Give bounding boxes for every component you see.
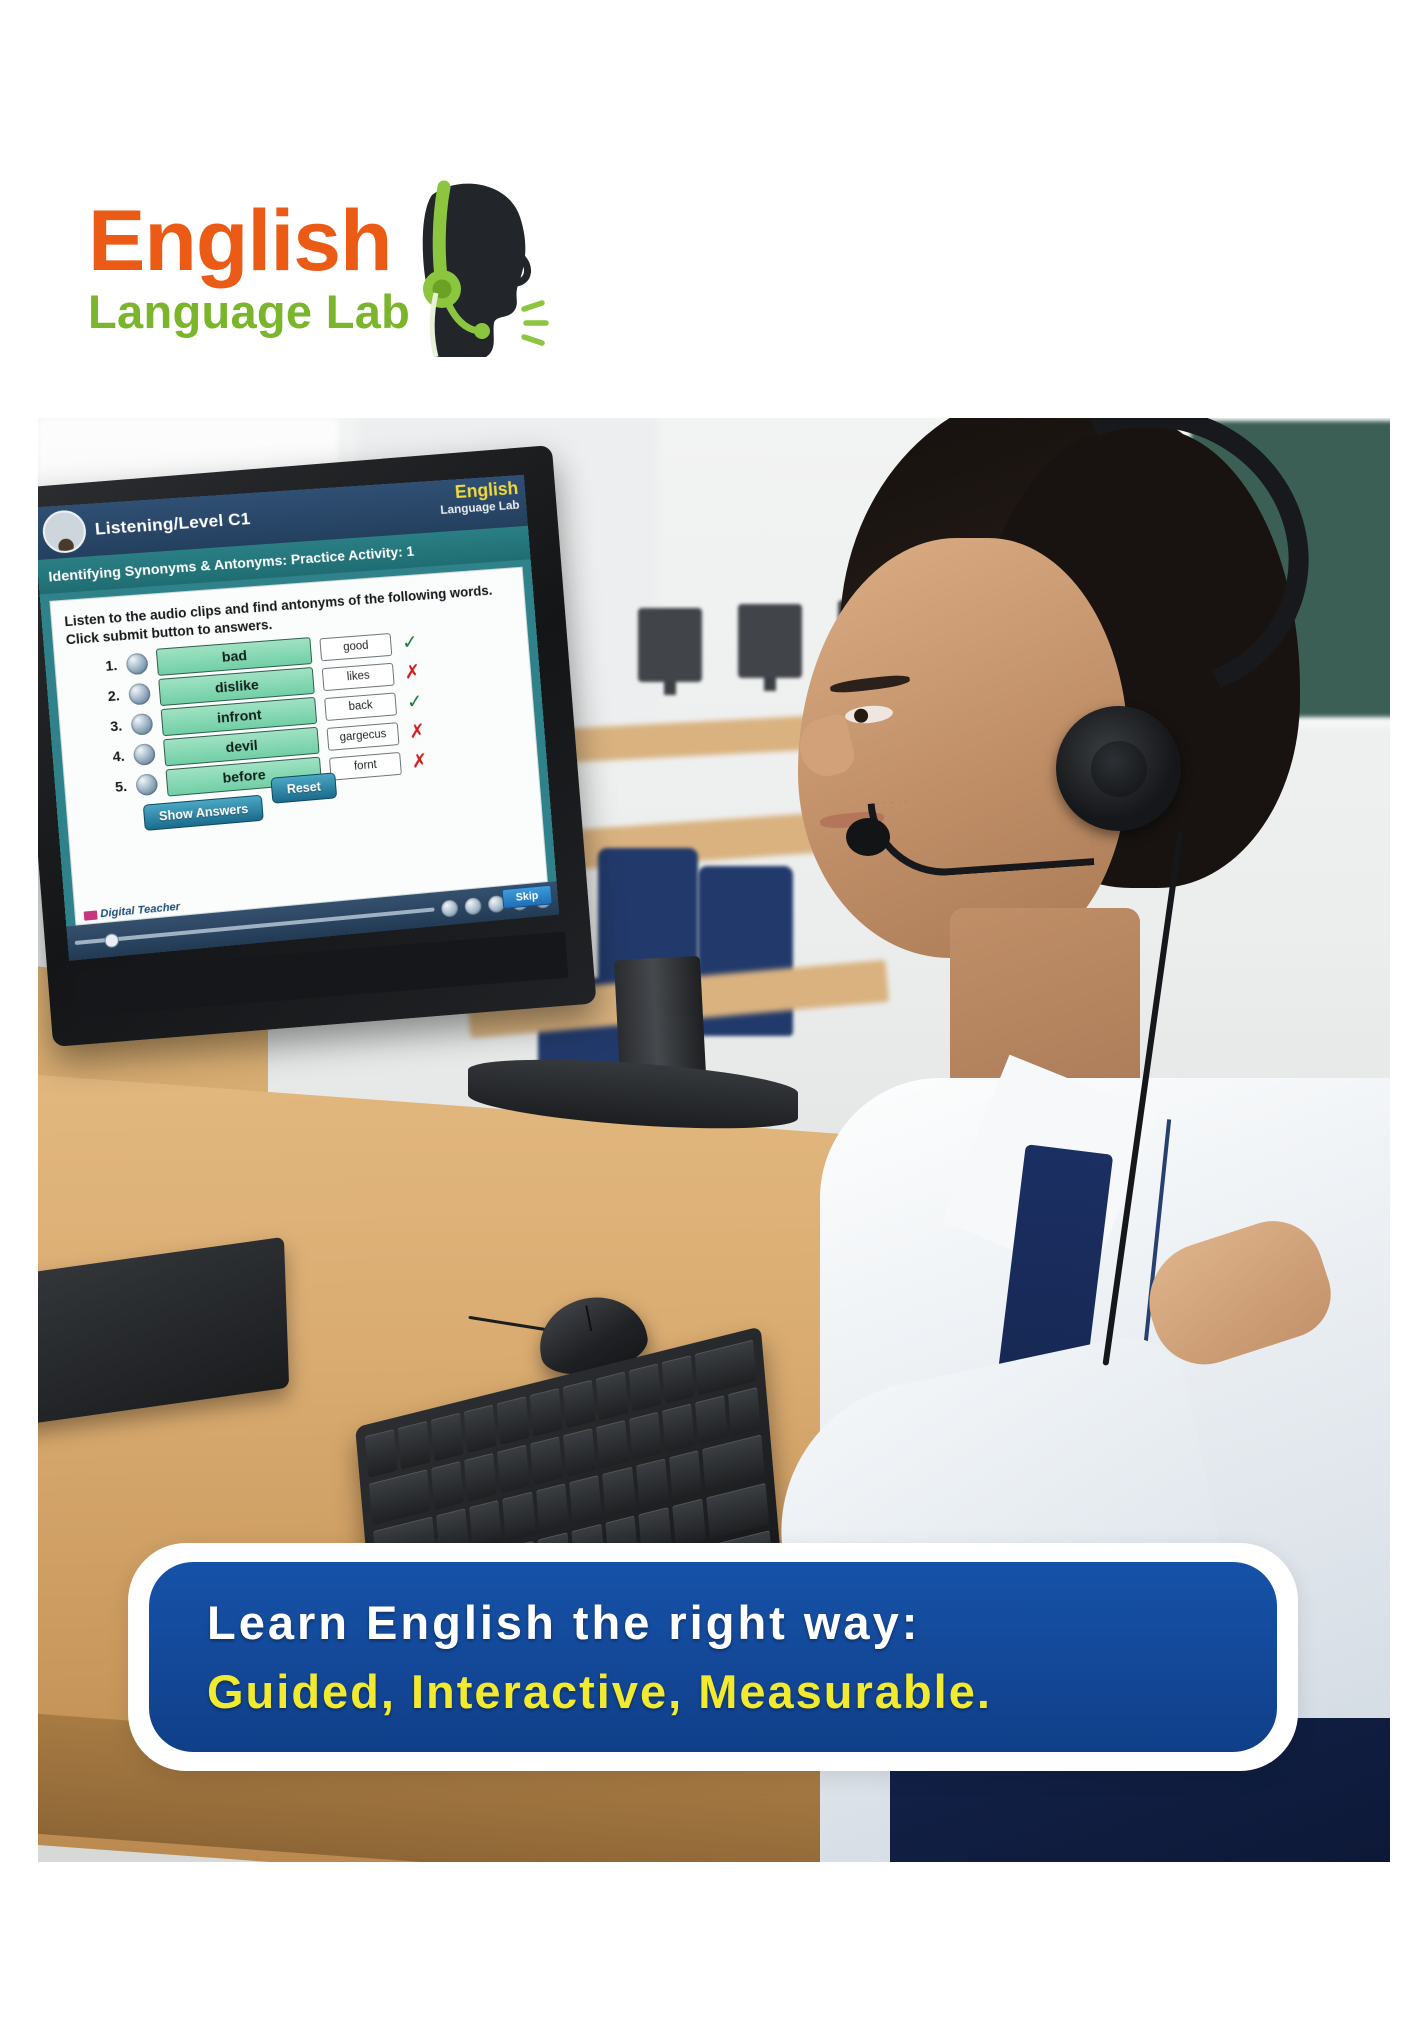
student-avatar-icon xyxy=(41,509,87,554)
answer-input[interactable]: good xyxy=(319,633,392,661)
row-number: 1. xyxy=(96,657,118,675)
head-with-headset-icon xyxy=(400,173,550,363)
result-mark: ✓ xyxy=(404,692,425,712)
logo-word-language-lab: Language Lab xyxy=(88,290,410,333)
row-number: 3. xyxy=(101,718,123,736)
result-mark: ✗ xyxy=(409,751,430,771)
answer-input[interactable]: gargecus xyxy=(327,722,400,751)
logo-word-english: English xyxy=(88,202,410,281)
tagline-line1: Learn English the right way: xyxy=(207,1595,1277,1650)
brand-logo-banner: English Language Lab xyxy=(22,118,690,418)
digital-teacher-mark-icon xyxy=(84,910,98,920)
monitor-screen: Listening/Level C1 English Language Lab … xyxy=(38,475,559,961)
app-body: Listen to the audio clips and find anton… xyxy=(40,559,557,926)
monitor: Listening/Level C1 English Language Lab … xyxy=(38,445,597,1047)
app-title: Listening/Level C1 xyxy=(94,509,251,540)
answer-input[interactable]: fornt xyxy=(329,752,402,781)
row-number: 4. xyxy=(104,748,126,766)
headset-microphone-icon xyxy=(846,818,890,856)
result-mark: ✗ xyxy=(407,722,428,742)
app-brand: English Language Lab xyxy=(438,479,520,516)
show-answers-button[interactable]: Show Answers xyxy=(143,795,264,831)
language-lab-app: Listening/Level C1 English Language Lab … xyxy=(38,475,559,961)
rewind-icon[interactable] xyxy=(441,899,459,917)
result-mark: ✗ xyxy=(402,662,423,682)
exercise-panel: Listen to the audio clips and find anton… xyxy=(49,567,548,926)
audio-speaker-icon[interactable] xyxy=(130,713,153,736)
row-number: 5. xyxy=(106,778,128,796)
audio-speaker-icon[interactable] xyxy=(126,652,149,675)
answer-input[interactable]: likes xyxy=(322,663,395,691)
result-mark: ✓ xyxy=(399,633,420,653)
tagline-banner: Learn English the right way: Guided, Int… xyxy=(128,1543,1298,1771)
tagline-line2: Guided, Interactive, Measurable. xyxy=(207,1664,1277,1719)
previous-icon[interactable] xyxy=(464,897,482,915)
audio-speaker-icon[interactable] xyxy=(135,773,158,796)
audio-speaker-icon[interactable] xyxy=(133,743,156,766)
app-brand-line2: Language Lab xyxy=(440,499,520,516)
reset-button[interactable]: Reset xyxy=(271,772,337,803)
answer-input[interactable]: back xyxy=(324,692,397,721)
row-number: 2. xyxy=(99,687,121,705)
audio-speaker-icon[interactable] xyxy=(128,683,151,706)
